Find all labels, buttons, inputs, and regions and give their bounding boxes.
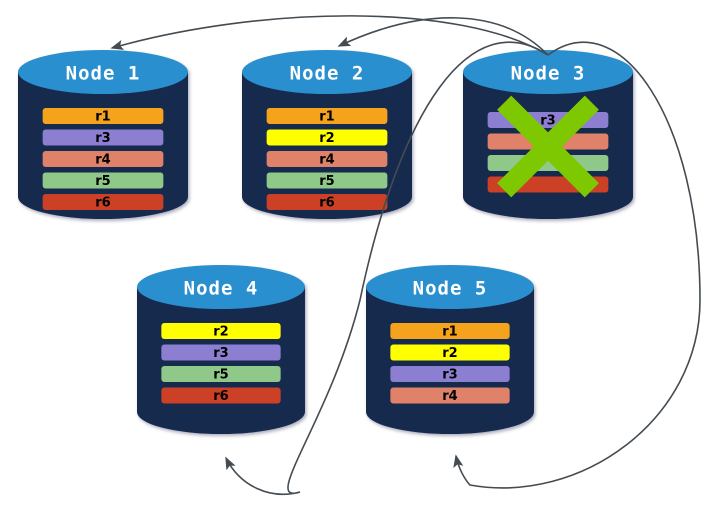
replica-label: r2 <box>442 346 457 361</box>
node-2-cylinder[interactable]: Node 2r1r2r4r5r6 <box>242 50 412 219</box>
replica-label: r3 <box>442 368 457 383</box>
replica-label: r2 <box>319 131 334 146</box>
nodes-layer: Node 1r1r3r4r5r6Node 2r1r2r4r5r6Node 3r3… <box>18 50 633 434</box>
replica-label: r6 <box>95 196 110 211</box>
node-1-cylinder[interactable]: Node 1r1r3r4r5r6 <box>18 50 188 219</box>
replica-label: r1 <box>442 325 457 340</box>
node-label: Node 5 <box>413 278 488 300</box>
node-label: Node 4 <box>184 278 259 300</box>
replica-label: r3 <box>540 114 555 129</box>
edge-node3-to-node2 <box>339 18 548 55</box>
replica-label: r3 <box>95 131 110 146</box>
replica-label: r5 <box>319 174 334 189</box>
replica-label: r6 <box>319 196 334 211</box>
replica-label: r4 <box>319 153 334 168</box>
diagram-canvas: Node 1r1r3r4r5r6Node 2r1r2r4r5r6Node 3r3… <box>0 0 708 508</box>
node-5-cylinder[interactable]: Node 5r1r2r3r4 <box>366 265 534 434</box>
replica-label: r1 <box>95 110 110 125</box>
node-label: Node 3 <box>511 63 586 85</box>
replica-label: r1 <box>319 110 334 125</box>
replica-label: r5 <box>95 174 110 189</box>
replica-label: r4 <box>95 153 110 168</box>
replica-label: r5 <box>213 368 228 383</box>
node-4-cylinder[interactable]: Node 4r2r3r5r6 <box>137 265 305 434</box>
replica-label: r4 <box>442 389 457 404</box>
node-label: Node 1 <box>66 63 141 85</box>
replica-label: r6 <box>213 389 228 404</box>
replica-label: r3 <box>213 346 228 361</box>
node-label: Node 2 <box>290 63 365 85</box>
replica-label: r2 <box>213 325 228 340</box>
cluster-diagram: Node 1r1r3r4r5r6Node 2r1r2r4r5r6Node 3r3… <box>0 0 708 508</box>
